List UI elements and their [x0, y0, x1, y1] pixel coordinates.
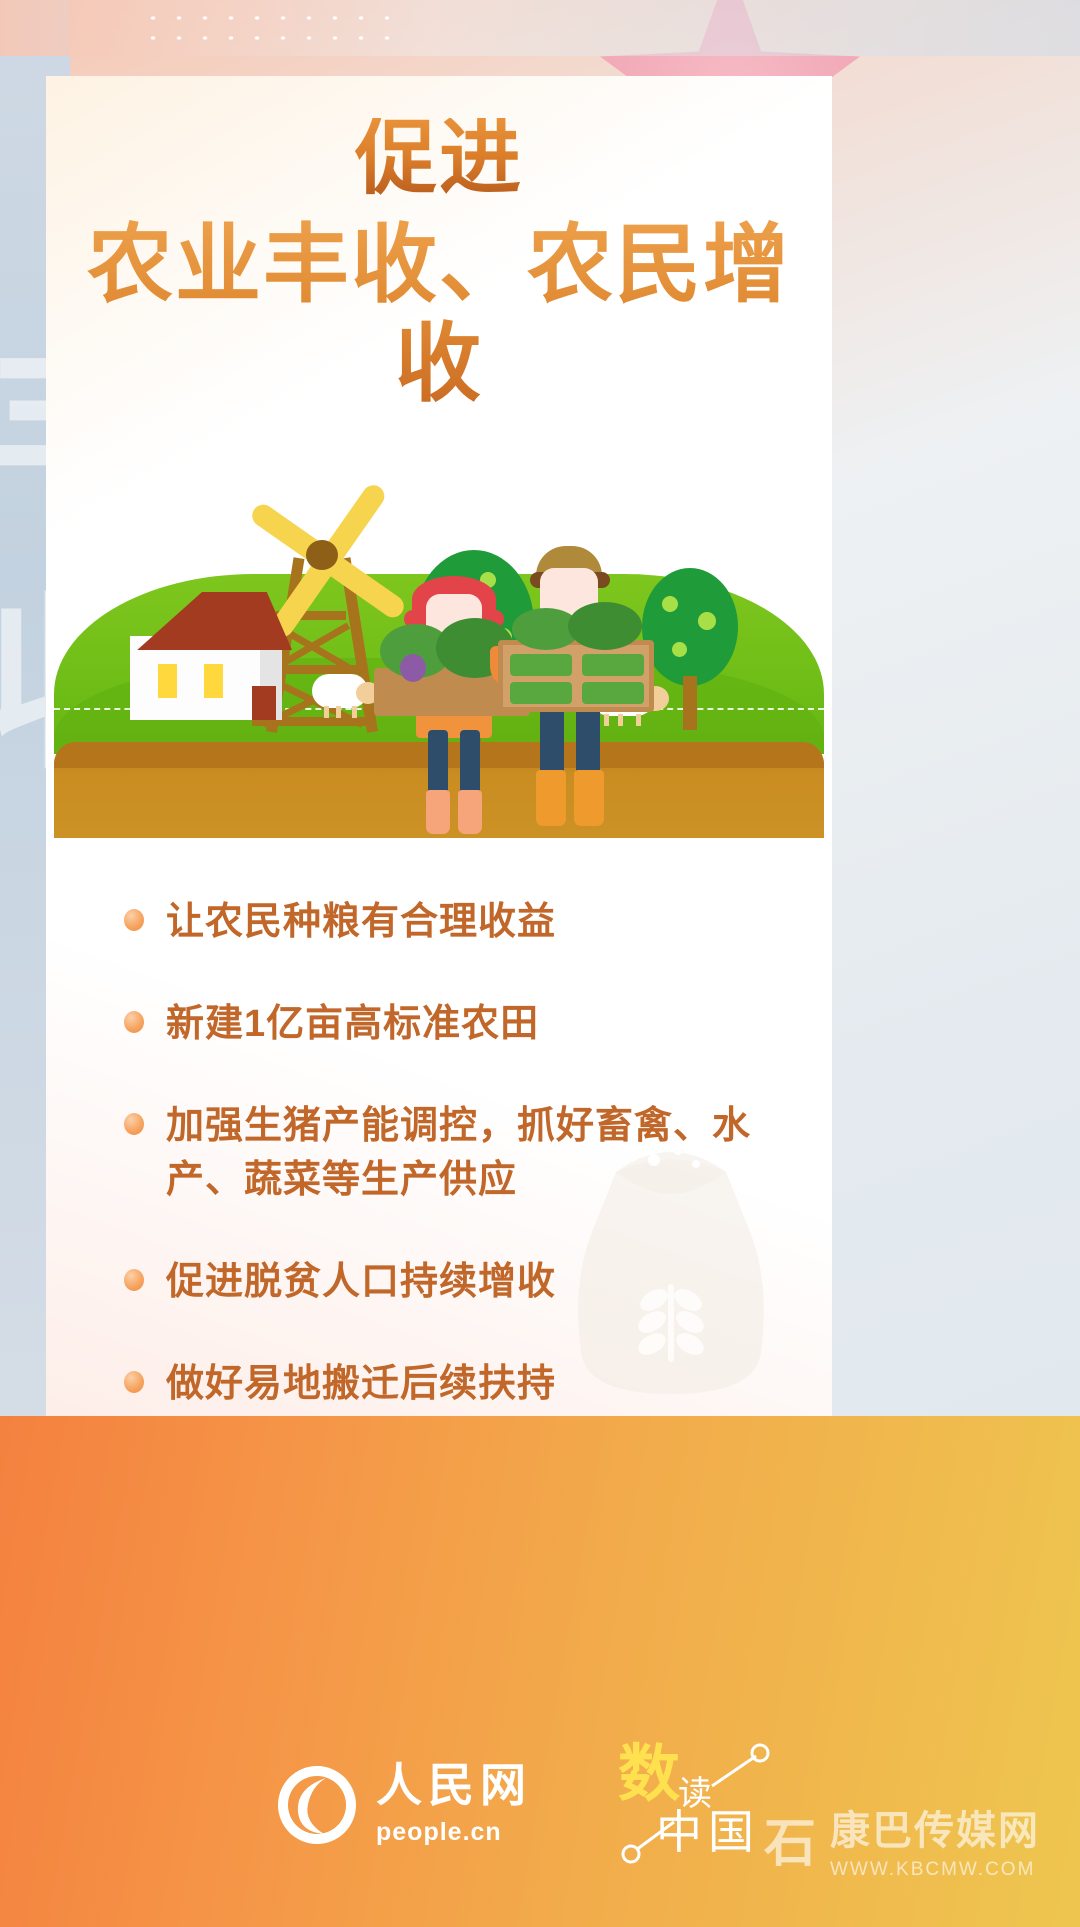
farmhouse-icon [116, 592, 288, 720]
farmer-leg-left [428, 730, 448, 796]
house-door [252, 686, 276, 720]
people-cn-chinese: 人民网 [376, 1763, 532, 1809]
people-cn-english: people.cn [376, 1818, 532, 1847]
farmer-leg-right [576, 708, 600, 778]
people-cn-text: 人民网 people.cn [376, 1763, 532, 1847]
farmer-man [506, 532, 636, 838]
farm-harvest-illustration [54, 448, 824, 838]
bullet-dot-icon [124, 1269, 144, 1291]
grain-sack-watermark-icon [546, 1102, 796, 1402]
title-line-1: 促进 [46, 118, 832, 200]
bullet-text: 让农民种粮有合理收益 [166, 896, 556, 950]
poster-card: 促进 农业丰收、农民增收 [46, 76, 832, 1416]
house-window-right [204, 664, 223, 698]
apple-tree-small [642, 568, 738, 686]
sheep-leg [324, 706, 329, 718]
tree-dot [698, 612, 716, 630]
bullet-dot-icon [124, 1113, 144, 1135]
farmer-woman [394, 542, 514, 838]
crate-vegetable [510, 654, 572, 676]
footer-band: 人民网 people.cn 数 读 中国 石 康巴传媒网 WWW.KBCMW.C… [0, 1416, 1080, 1927]
sheep-leg [336, 706, 341, 718]
tree-dot [672, 642, 687, 657]
farmer-boot-right [574, 770, 604, 826]
watermark-url: WWW.KBCMW.COM [830, 1859, 1040, 1881]
bullet-text: 做好易地搬迁后续扶持 [166, 1358, 556, 1412]
people-cn-mark-icon [274, 1762, 360, 1848]
farmer-boot-left [536, 770, 566, 826]
leafy-greens [568, 602, 642, 650]
list-item[interactable]: 让农民种粮有合理收益 [124, 896, 824, 950]
bullet-dot-icon [124, 1011, 144, 1033]
bullet-dot-icon [124, 909, 144, 931]
farmer-boot-right [458, 790, 482, 834]
watermark-site-name: 康巴传媒网 [830, 1809, 1040, 1853]
bullet-dot-icon [124, 1371, 144, 1393]
crate-vegetable [582, 654, 644, 676]
bullet-text: 促进脱贫人口持续增收 [166, 1256, 556, 1310]
footer-logos: 人民网 people.cn 数 读 中国 [0, 1682, 1080, 1927]
windmill-hub [306, 540, 338, 570]
people-cn-logo[interactable]: 人民网 people.cn [274, 1762, 532, 1848]
shudu-zhongguo: 中国 [656, 1810, 760, 1856]
crate-vegetable [510, 682, 572, 704]
bullet-text: 新建1亿亩高标准农田 [166, 998, 539, 1052]
eggplant [400, 654, 426, 682]
page-title: 促进 农业丰收、农民增收 [46, 76, 832, 414]
tree-trunk-small [683, 676, 697, 730]
farmer-boot-left [426, 790, 450, 834]
site-watermark: 石 康巴传媒网 WWW.KBCMW.COM [764, 1809, 1040, 1881]
farmer-leg-left [540, 708, 564, 778]
title-line-2: 农业丰收、农民增收 [46, 216, 832, 414]
tree-dot [662, 596, 678, 612]
background-dot-pattern [140, 8, 400, 52]
farmer-leg-right [460, 730, 480, 796]
crate-vegetable [582, 682, 644, 704]
house-window-left [158, 664, 177, 698]
list-item[interactable]: 新建1亿亩高标准农田 [124, 998, 824, 1052]
shudu-char-shu: 数 [618, 1744, 680, 1806]
watermark-text: 康巴传媒网 WWW.KBCMW.COM [830, 1809, 1040, 1881]
sheep-leg [352, 706, 357, 718]
watermark-mark-icon: 石 [764, 1819, 816, 1871]
sheep-leg [636, 714, 641, 726]
